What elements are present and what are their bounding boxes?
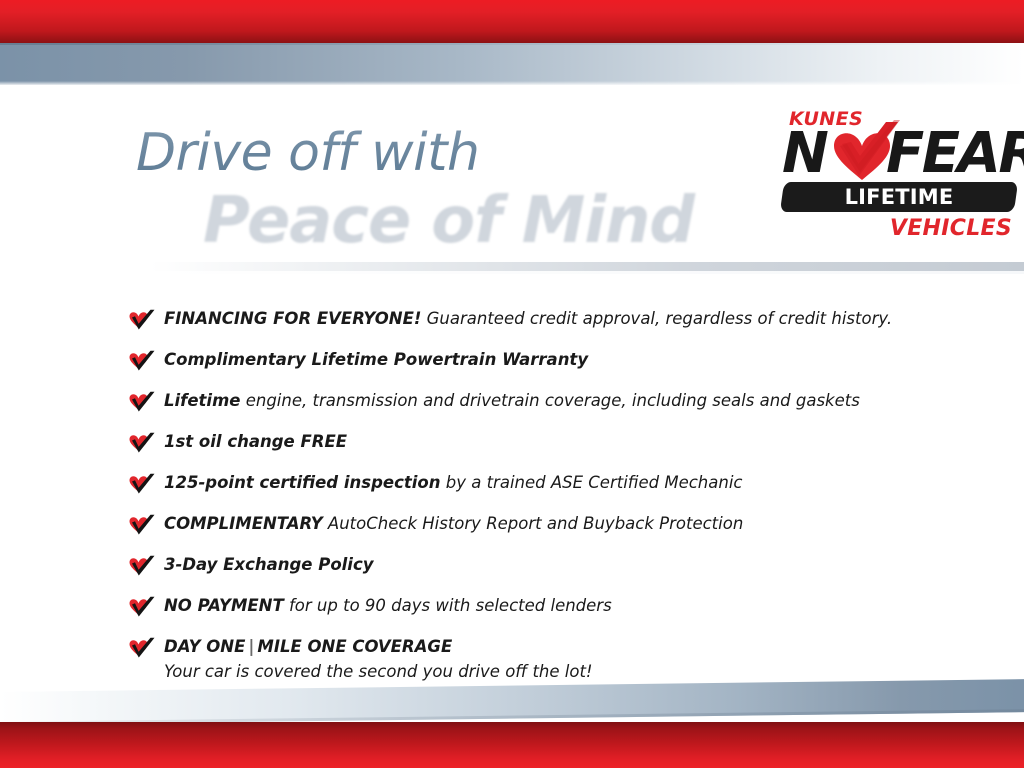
list-item: NO PAYMENT for up to 90 days with select… [128, 595, 928, 627]
list-item-bold: 1st oil change FREE [164, 432, 347, 451]
list-item-rest: for up to 90 days with selected lenders [284, 596, 612, 615]
list-item-text: 1st oil change FREE [164, 431, 928, 453]
list-item-bold: Complimentary Lifetime Powertrain Warran… [164, 350, 588, 369]
heart-check-icon [128, 596, 155, 618]
header-divider [150, 262, 1024, 271]
list-item-bold-a: DAY ONE [164, 637, 245, 656]
list-item-subtext: Your car is covered the second you drive… [164, 660, 928, 684]
logo-no-fear-wordmark: N FEAR [782, 126, 1016, 182]
list-item-text: FINANCING FOR EVERYONE! Guaranteed credi… [164, 308, 928, 330]
promo-banner: Drive off with Peace of Mind KUNES N FEA… [0, 0, 1024, 768]
list-item: FINANCING FOR EVERYONE! Guaranteed credi… [128, 308, 928, 340]
heart-check-icon [128, 309, 155, 331]
list-item-separator: | [245, 637, 257, 656]
list-item-bold: Lifetime [164, 391, 240, 410]
list-item: Complimentary Lifetime Powertrain Warran… [128, 349, 928, 381]
list-item: 3-Day Exchange Policy [128, 554, 928, 586]
list-item-text: NO PAYMENT for up to 90 days with select… [164, 595, 928, 617]
list-item-bold: FINANCING FOR EVERYONE! [164, 309, 421, 328]
list-item-text: COMPLIMENTARY AutoCheck History Report a… [164, 513, 928, 535]
list-item-bold: NO PAYMENT [164, 596, 284, 615]
benefits-list: FINANCING FOR EVERYONE! Guaranteed credi… [128, 308, 928, 693]
list-item-rest: AutoCheck History Report and Buyback Pro… [323, 514, 744, 533]
heart-check-icon [128, 555, 155, 577]
headline-line-2: Peace of Mind [202, 184, 756, 254]
list-item-bold: 125-point certified inspection [164, 473, 441, 492]
heart-check-icon [128, 350, 155, 372]
list-item-text: Lifetime engine, transmission and drivet… [164, 390, 928, 412]
kunes-no-fear-logo: KUNES N FEAR LIFETIME CERTIFIED VEHICLES [776, 108, 1016, 246]
list-item: DAY ONE|MILE ONE COVERAGE Your car is co… [128, 636, 928, 684]
list-item-bold: COMPLIMENTARY [164, 514, 323, 533]
list-item-bold-b: MILE ONE COVERAGE [257, 637, 452, 656]
list-item: 1st oil change FREE [128, 431, 928, 463]
top-gray-band [0, 43, 1024, 85]
heart-check-icon [128, 637, 155, 659]
headline-line-1: Drive off with [136, 124, 756, 182]
heart-check-icon [128, 473, 155, 495]
list-item-text: Complimentary Lifetime Powertrain Warran… [164, 349, 928, 371]
list-item: Lifetime engine, transmission and drivet… [128, 390, 928, 422]
list-item: COMPLIMENTARY AutoCheck History Report a… [128, 513, 928, 545]
logo-vehicles-label: VEHICLES [890, 216, 1012, 241]
heart-check-icon [128, 514, 155, 536]
list-item-rest: Guaranteed credit approval, regardless o… [421, 309, 892, 328]
heart-check-icon [128, 391, 155, 413]
list-item-text: DAY ONE|MILE ONE COVERAGE [164, 636, 928, 658]
list-item: 125-point certified inspection by a trai… [128, 472, 928, 504]
headline-block: Drive off with Peace of Mind [136, 124, 756, 254]
list-item-rest: engine, transmission and drivetrain cove… [240, 391, 859, 410]
top-red-band [0, 0, 1024, 43]
logo-word-fear: FEAR [886, 126, 1024, 182]
list-item-text: 125-point certified inspection by a trai… [164, 472, 928, 494]
bottom-red-band [0, 722, 1024, 768]
list-item-text: 3-Day Exchange Policy [164, 554, 928, 576]
list-item-rest: by a trained ASE Certified Mechanic [441, 473, 743, 492]
list-item-bold: 3-Day Exchange Policy [164, 555, 374, 574]
logo-lifetime-certified-label: LIFETIME CERTIFIED [782, 182, 1016, 212]
heart-check-icon [128, 432, 155, 454]
